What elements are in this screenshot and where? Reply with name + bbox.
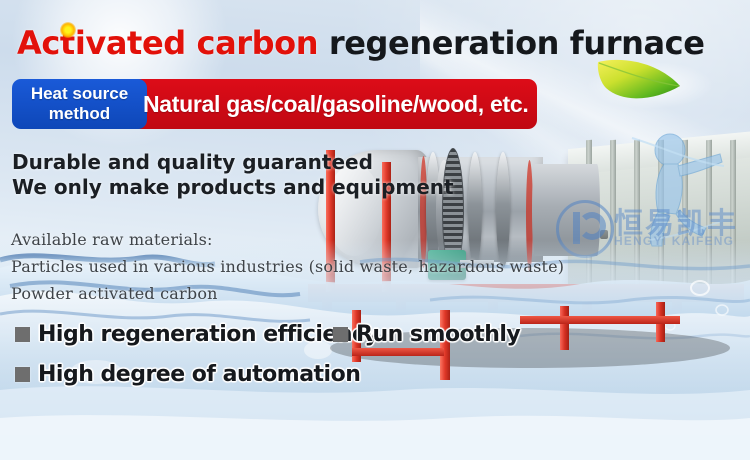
heat-source-label-line1: Heat source (31, 84, 128, 104)
bullet-square-icon (333, 327, 348, 342)
heat-source-label-line2: method (49, 104, 110, 124)
tagline-line-1: Durable and quality guaranteed (12, 150, 454, 175)
leaf-icon (596, 56, 682, 110)
feature-item-high-degree-of-automation: High degree of automation (15, 362, 360, 387)
raw-materials-item-2: Powder activated carbon (11, 280, 564, 307)
feature-label: Run smoothly (356, 322, 520, 347)
title-sparkle-icon (60, 22, 76, 38)
tagline-block: Durable and quality guaranteed We only m… (12, 150, 454, 200)
heat-source-value-text: Natural gas/coal/gasoline/wood, etc. (143, 79, 528, 129)
page-title: Activated carbon regeneration furnace (17, 24, 705, 62)
feature-item-run-smoothly: Run smoothly (333, 322, 520, 347)
frame-brace (352, 348, 444, 356)
promo-banner: 恒易凯丰 HENGYI KAIFENG (0, 0, 750, 460)
frame-leg (560, 306, 569, 350)
raw-materials-heading: Available raw materials: (11, 226, 564, 253)
bullet-square-icon (15, 367, 30, 382)
frame-brace (520, 316, 680, 324)
bullet-square-icon (15, 327, 30, 342)
title-rest: regeneration furnace (318, 24, 704, 62)
feature-label: High degree of automation (38, 362, 360, 387)
feature-label: High regeneration efficiency (38, 322, 378, 347)
raw-materials-item-1: Particles used in various industries (so… (11, 253, 564, 280)
feature-item-high-regeneration-efficiency: High regeneration efficiency (15, 322, 378, 347)
raw-materials-block: Available raw materials: Particles used … (11, 226, 564, 307)
heat-source-label-badge: Heat source method (12, 79, 147, 129)
tagline-line-2: We only make products and equipment (12, 175, 454, 200)
